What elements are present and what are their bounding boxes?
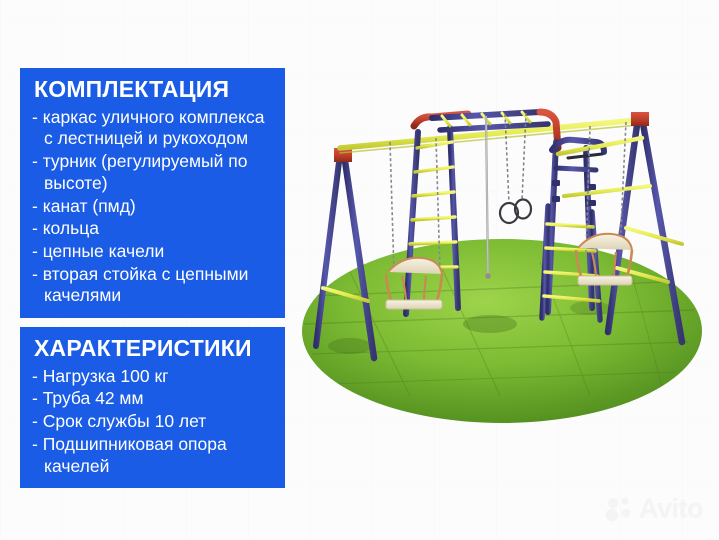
- list-item-label: вторая стойка с цепными качелями: [43, 264, 249, 306]
- list-item: - цепные качели: [32, 241, 273, 263]
- right-yellow-rail: [626, 228, 682, 244]
- list-item: - канат (пмд): [32, 196, 273, 218]
- bullet-dash: -: [32, 434, 38, 454]
- list-item-label: кольца: [43, 218, 99, 238]
- list-item-label: Труба 42 мм: [43, 388, 144, 408]
- list-item-label: канат (пмд): [43, 196, 136, 216]
- playground-complex-illustration: [290, 96, 715, 426]
- ground-shadow: [328, 338, 372, 354]
- panel-komplektatsiya-list: - каркас уличного комплекса с лестницей …: [32, 107, 273, 307]
- list-item: - Нагрузка 100 кг: [32, 366, 273, 388]
- list-item-label: Срок службы 10 лет: [43, 411, 207, 431]
- avito-watermark: Avito: [605, 495, 703, 522]
- bullet-dash: -: [32, 218, 38, 238]
- bullet-dash: -: [32, 264, 38, 284]
- ground-shadow: [463, 315, 517, 333]
- list-item: - Труба 42 мм: [32, 388, 273, 410]
- panel-harakteristiki-list: - Нагрузка 100 кг - Труба 42 мм - Срок с…: [32, 366, 273, 477]
- playground-svg: [290, 96, 715, 426]
- list-item-label: каркас уличного комплекса с лестницей и …: [43, 107, 265, 149]
- list-item-label: Подшипниковая опора качелей: [43, 434, 227, 476]
- list-item: - турник (регулируемый по высоте): [32, 151, 273, 194]
- panel-komplektatsiya: КОМПЛЕКТАЦИЯ - каркас уличного комплекса…: [20, 68, 285, 318]
- list-item: - кольца: [32, 218, 273, 240]
- list-item-label: турник (регулируемый по высоте): [43, 151, 248, 193]
- bullet-dash: -: [32, 366, 38, 386]
- bullet-dash: -: [32, 241, 38, 261]
- listing-image-canvas: КОМПЛЕКТАЦИЯ - каркас уличного комплекса…: [0, 0, 719, 540]
- panel-harakteristiki-title: ХАРАКТЕРИСТИКИ: [34, 336, 273, 362]
- list-item: - вторая стойка с цепными качелями: [32, 264, 273, 307]
- list-item-label: Нагрузка 100 кг: [43, 366, 169, 386]
- panel-komplektatsiya-title: КОМПЛЕКТАЦИЯ: [34, 77, 273, 103]
- panel-harakteristiki: ХАРАКТЕРИСТИКИ - Нагрузка 100 кг - Труба…: [20, 327, 285, 488]
- list-item: - каркас уличного комплекса с лестницей …: [32, 107, 273, 150]
- bullet-dash: -: [32, 107, 38, 127]
- avito-logo-icon: [605, 496, 635, 522]
- bullet-dash: -: [32, 388, 38, 408]
- list-item: - Подшипниковая опора качелей: [32, 434, 273, 477]
- bullet-dash: -: [32, 411, 38, 431]
- bullet-dash: -: [32, 151, 38, 171]
- bullet-dash: -: [32, 196, 38, 216]
- list-item-label: цепные качели: [43, 241, 165, 261]
- list-item: - Срок службы 10 лет: [32, 411, 273, 433]
- avito-brand-text: Avito: [639, 495, 703, 522]
